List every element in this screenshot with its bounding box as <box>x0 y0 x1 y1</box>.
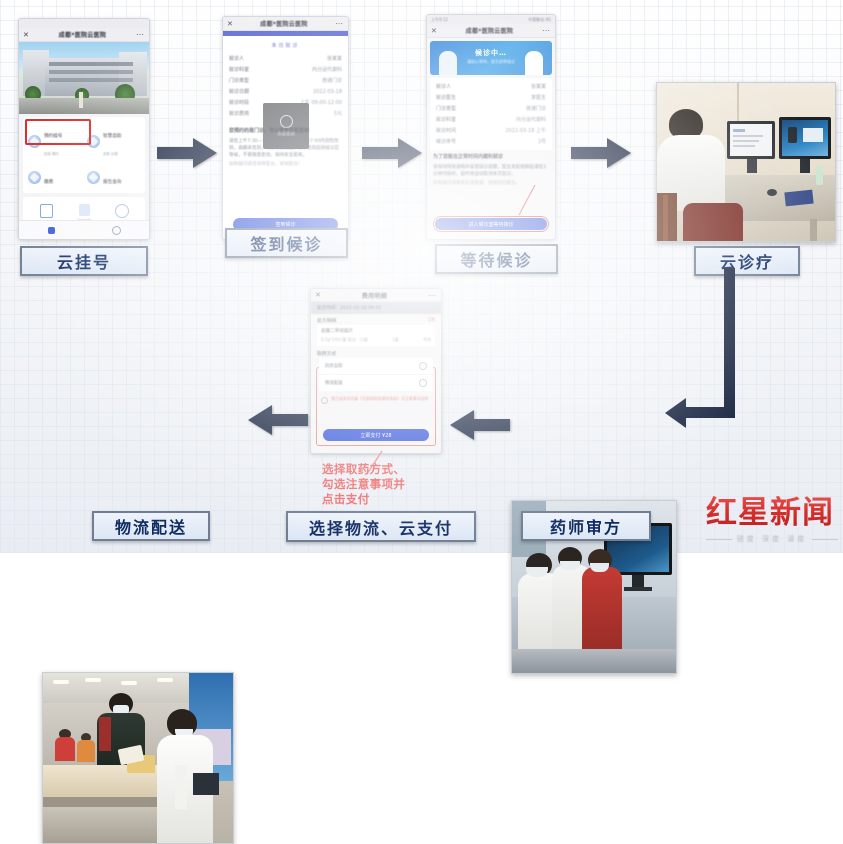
banner-title: 候诊中… <box>475 48 507 58</box>
phone1-nav-title: 成都*医院云医院 <box>59 30 107 39</box>
service-item-1[interactable]: 智慧自助 自助 办理 <box>87 123 140 160</box>
phone3-nav-title: 成都*医院云医院 <box>466 26 514 35</box>
caption-step-3: 等待候诊 <box>435 244 558 274</box>
service-item-1-sub: 自助 办理 <box>103 152 118 156</box>
doctor-illustration <box>525 51 543 75</box>
service-item-0-sub: 在线 预约 <box>44 152 59 156</box>
field-value: 3号 <box>538 138 546 145</box>
field-label: 就诊人 <box>229 55 244 62</box>
waiting-banner: 候诊中… 请耐心等待，医生即将接诊 <box>430 41 552 75</box>
drug-name: 盐酸二甲双胍片 <box>321 328 431 334</box>
enter-waiting-room-highlight: 进入候诊室等待接诊 <box>433 216 549 232</box>
payment-annotation: 选择取药方式、勾选注意事项并点击支付 <box>322 462 405 508</box>
field-label: 候诊序号 <box>436 138 456 145</box>
prescription-count: 1项 <box>428 317 435 324</box>
field-row: 就诊科室 内分泌代谢科 <box>223 64 348 75</box>
patient-illustration <box>439 51 457 75</box>
caption-step-7: 物流配送 <box>92 511 210 541</box>
registration-highlight-box <box>25 119 91 145</box>
connector-horizontal <box>684 407 735 418</box>
phone1-status-bar <box>19 19 149 28</box>
field-label: 就诊时间 <box>436 127 456 134</box>
pickup-option-0-label: 药房自取 <box>325 363 343 369</box>
caption-step-5: 药师审方 <box>521 511 651 541</box>
connector-vertical <box>724 268 735 418</box>
shipping-section-title: 取药方式 <box>311 346 441 358</box>
phone3-status-bar: 上午9:12 中国移动 4G <box>427 15 555 24</box>
hospital-photo <box>19 42 149 114</box>
arrow-2 <box>362 138 422 168</box>
arrow-3 <box>571 138 631 168</box>
more-icon[interactable]: ⋯ <box>335 19 344 28</box>
back-icon[interactable]: ✕ <box>23 31 29 39</box>
field-label: 就诊科室 <box>436 116 456 123</box>
notice-sub: 如有疑问请咨询导医台，谢谢配合！ <box>223 160 348 169</box>
phone1-tab-bar[interactable] <box>19 220 149 239</box>
logo-tagline-row: 锐度 深度 温度 <box>706 534 838 544</box>
field-row: 门诊类型 普通门诊 <box>223 75 348 86</box>
connector-arrow-head <box>664 397 688 429</box>
phone6-nav-bar: ✕ 费用明细 ⋯ <box>311 289 441 302</box>
pickup-option-0[interactable]: 药房自取 <box>319 358 433 375</box>
service-grid: 预约挂号 在线 预约 智慧自助 自助 办理 缴费 <box>23 117 145 193</box>
field-value: 2022-03-18 上午 <box>505 127 546 134</box>
field-value: 内分泌代谢科 <box>312 66 342 73</box>
notice-body: 请在上午7:30—11:30、下午13:00—17:00内到院签到，逾期未签到，… <box>223 137 348 160</box>
field-row: 就诊医生 李医生 <box>430 92 552 103</box>
agreement-text: 我已阅读并同意《互联网医院服务条款》及注意事项说明 <box>331 396 428 402</box>
field-row: 就诊科室 内分泌代谢科 <box>430 114 552 125</box>
field-row: 就诊人 张某某 <box>430 81 552 92</box>
field-value: 5元 <box>334 110 342 117</box>
phone-mock-registration[interactable]: ✕ 成都*医院云医院 ⋯ 预约挂号 <box>18 18 150 240</box>
record-icon <box>79 204 90 216</box>
enter-waiting-room-button[interactable]: 进入候诊室等待接诊 <box>435 218 547 230</box>
notice-body: 请保持网络通畅并留意接诊提醒，医生发起视频后请在3分钟内接听，超时将自动取消本次… <box>427 163 555 179</box>
phone1-nav-bar: ✕ 成都*医院云医院 ⋯ <box>19 28 149 42</box>
field-value: 张某某 <box>327 55 342 62</box>
red-pen-stroke <box>515 183 539 217</box>
photo-logistics-delivery <box>42 672 234 844</box>
pay-now-button[interactable]: 立即支付 ¥28 <box>323 429 429 441</box>
field-value: 张某某 <box>531 83 546 90</box>
field-label: 就诊科室 <box>229 66 249 73</box>
service-item-2-label: 缴费 <box>44 180 53 185</box>
phone-mock-payment[interactable]: ✕ 费用明细 ⋯ 处方时间：2022-03-18 09:41 处方明细 1项 盐… <box>310 288 442 454</box>
field-value: 李医生 <box>531 94 546 101</box>
radio-icon[interactable] <box>419 362 427 370</box>
service-item-3-label: 报告查询 <box>103 180 121 185</box>
close-icon[interactable]: ✕ <box>315 291 321 299</box>
service-item-1-label: 智慧自助 <box>103 134 121 139</box>
arrow-5 <box>248 405 308 435</box>
report-icon <box>87 171 100 184</box>
field-label: 就诊费用 <box>229 110 249 117</box>
service-item-2[interactable]: 缴费 <box>28 169 81 187</box>
phone-mock-checkin[interactable]: ✕ 成都*医院云医院 ⋯ 本日就诊 就诊人 张某某 就诊科室 内分泌代谢科 门诊… <box>222 16 349 240</box>
phone-mock-waiting[interactable]: 上午9:12 中国移动 4G ✕ 成都*医院云医院 ⋯ 候诊中… 请耐心等待，医… <box>426 14 556 240</box>
caption-step-6: 选择物流、云支付 <box>286 511 476 542</box>
more-icon[interactable]: ⋯ <box>428 291 437 300</box>
drug-price: ¥28 <box>423 337 431 343</box>
tab-home-icon[interactable] <box>48 227 55 234</box>
field-label: 门诊类型 <box>436 105 456 112</box>
arrow-1 <box>157 138 217 168</box>
field-row: 就诊时间 2022-03-18 上午 <box>430 125 552 136</box>
field-value: 内分泌代谢科 <box>516 116 546 123</box>
phone6-nav-title: 费用明细 <box>362 291 387 300</box>
status-signal: 中国移动 4G <box>528 17 551 23</box>
field-label: 就诊时段 <box>229 99 249 106</box>
guide-icon <box>40 204 53 218</box>
more-icon[interactable]: ⋯ <box>542 26 551 35</box>
field-value: 普通门诊 <box>526 105 546 112</box>
inpatient-icon <box>115 204 129 218</box>
flow-diagram-page: ✕ 成都*医院云医院 ⋯ 预约挂号 <box>0 0 843 553</box>
drug-qty: 1盒 <box>392 337 399 343</box>
drug-spec: 0.5g*24片/盒 用法：口服 <box>321 337 368 343</box>
field-label: 就诊人 <box>436 83 451 90</box>
tab-profile-icon[interactable] <box>112 226 121 235</box>
logo-tagline: 锐度 深度 温度 <box>737 534 807 544</box>
field-row: 候诊序号 3号 <box>430 136 552 147</box>
arrow-4 <box>450 410 510 440</box>
status-time: 上午9:12 <box>431 17 448 23</box>
field-value: 2022-03-18 <box>313 89 342 95</box>
phone2-nav-bar: ✕ 成都*医院云医院 ⋯ <box>223 17 348 31</box>
phone2-nav-title: 成都*医院云医院 <box>260 19 308 28</box>
field-value: 普通门诊 <box>322 77 342 84</box>
close-icon[interactable]: ✕ <box>431 27 437 35</box>
radio-icon[interactable] <box>419 379 427 387</box>
phone2-section-title: 本日就诊 <box>223 42 348 49</box>
field-row: 就诊人 张某某 <box>223 53 348 64</box>
pickup-option-1-label: 物流配送 <box>325 380 343 386</box>
logo-name: 红星新闻 <box>706 487 838 532</box>
more-icon[interactable]: ⋯ <box>136 30 145 39</box>
field-label: 就诊日期 <box>229 88 249 95</box>
field-row: 门诊类型 普通门诊 <box>430 103 552 114</box>
wallet-icon <box>28 171 41 184</box>
field-label: 门诊类型 <box>229 77 249 84</box>
close-icon[interactable]: ✕ <box>227 20 233 28</box>
pickup-option-1[interactable]: 物流配送 <box>319 375 433 391</box>
notice-title: 为了您能在正常时间内顺利就诊 <box>427 153 555 163</box>
field-row: 就诊日期 2022-03-18 <box>223 86 348 97</box>
field-label: 就诊医生 <box>436 94 456 101</box>
banner-subtitle: 请耐心等待，医生即将接诊 <box>467 59 515 65</box>
phone3-nav-bar: ✕ 成都*医院云医院 ⋯ <box>427 24 555 38</box>
order-time-line: 处方时间：2022-03-18 09:41 <box>311 302 441 314</box>
red-star-news-logo: 红星新闻 锐度 深度 温度 <box>706 487 838 544</box>
service-item-3[interactable]: 报告查询 <box>87 169 140 187</box>
photo-teleconsultation <box>656 82 836 242</box>
caption-step-2: 签到候诊 <box>225 228 348 258</box>
notice-title: 您预约的是门诊，可以使用自助签到 <box>223 127 348 137</box>
caption-step-1: 云挂号 <box>20 246 148 276</box>
prescription-section-title: 处方明细 <box>317 317 336 324</box>
